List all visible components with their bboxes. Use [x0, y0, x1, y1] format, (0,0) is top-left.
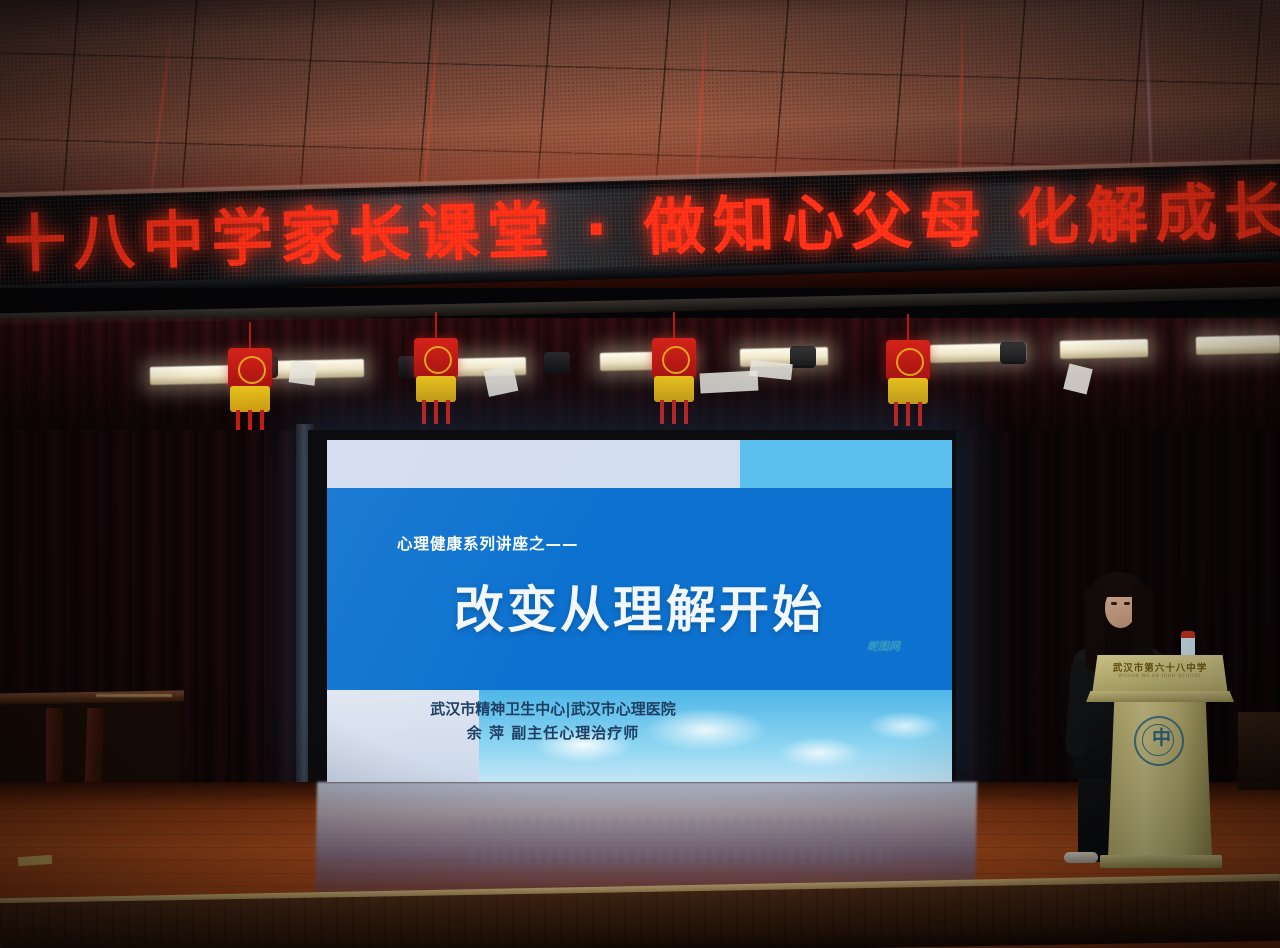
- lantern-skirt: [888, 378, 928, 404]
- auditorium-scene: 六十八中学家长课堂 · 做知心父母 化解成长烦: [0, 0, 1280, 948]
- slide-organization: 武汉市精神卫生中心|武汉市心理医院: [327, 698, 779, 719]
- hanging-paper: [289, 360, 318, 385]
- lantern-tassel: [422, 400, 426, 424]
- lantern-seal: [896, 348, 924, 376]
- lantern-body: [886, 340, 930, 380]
- slide-subtitle: 心理健康系列讲座之——: [397, 532, 579, 554]
- lantern-cord: [907, 314, 909, 342]
- speaker-eye: [1124, 602, 1130, 605]
- lantern-tassel: [446, 400, 450, 424]
- lantern-tassel: [906, 402, 910, 426]
- spotlight-fixture: [790, 346, 816, 368]
- stage-table-leg: [85, 708, 105, 789]
- stage-table-highlight: [96, 694, 172, 697]
- podium-school-name-cn: 武汉市第六十八中学: [1092, 660, 1228, 674]
- speaker-shoe: [1064, 852, 1098, 863]
- speaker-eye: [1111, 602, 1117, 605]
- lantern-tassel: [918, 402, 922, 426]
- stage-light: [272, 359, 364, 379]
- lantern-tassel: [660, 400, 664, 424]
- lantern-seal: [662, 346, 690, 374]
- slide-title: 改变从理解开始: [327, 570, 952, 642]
- lantern-skirt: [654, 376, 694, 402]
- lantern-cord: [249, 322, 251, 350]
- reflected-text-blur: [470, 818, 890, 866]
- lantern-skirt: [416, 376, 456, 402]
- podium-lip: [1086, 691, 1234, 702]
- stage-light: [1060, 339, 1148, 359]
- lantern-tassel: [684, 400, 688, 424]
- lantern-tassel: [894, 402, 898, 426]
- spotlight-fixture: [1000, 342, 1026, 364]
- projection-screen[interactable]: 心理健康系列讲座之—— 改变从理解开始 昵图网 武汉市精神卫生中心|武汉市心理医…: [327, 440, 952, 785]
- lantern-tassel: [434, 400, 438, 424]
- school-emblem-glyph: 中: [1152, 727, 1171, 749]
- slide-top-band-accent: [740, 440, 952, 488]
- lantern-body: [652, 338, 696, 378]
- stage-chair-right: [1238, 712, 1280, 790]
- slide-watermark: 昵图网: [867, 638, 900, 654]
- spotlight-fixture: [544, 352, 570, 374]
- lantern-tassel: [672, 400, 676, 424]
- lantern-seal: [424, 346, 452, 374]
- slide-presenter: 余 萍 副主任心理治疗师: [327, 722, 779, 743]
- lantern-body: [228, 348, 272, 388]
- lantern-skirt: [230, 386, 270, 412]
- lantern-cord: [435, 312, 437, 340]
- lantern-seal: [238, 356, 266, 384]
- lantern-body: [414, 338, 458, 378]
- podium-school-name-en: WUHAN NO.68 HIGH SCHOOL: [1092, 674, 1228, 679]
- lantern-cord: [673, 312, 675, 340]
- stage-light: [1196, 335, 1280, 355]
- podium-base: [1100, 855, 1222, 868]
